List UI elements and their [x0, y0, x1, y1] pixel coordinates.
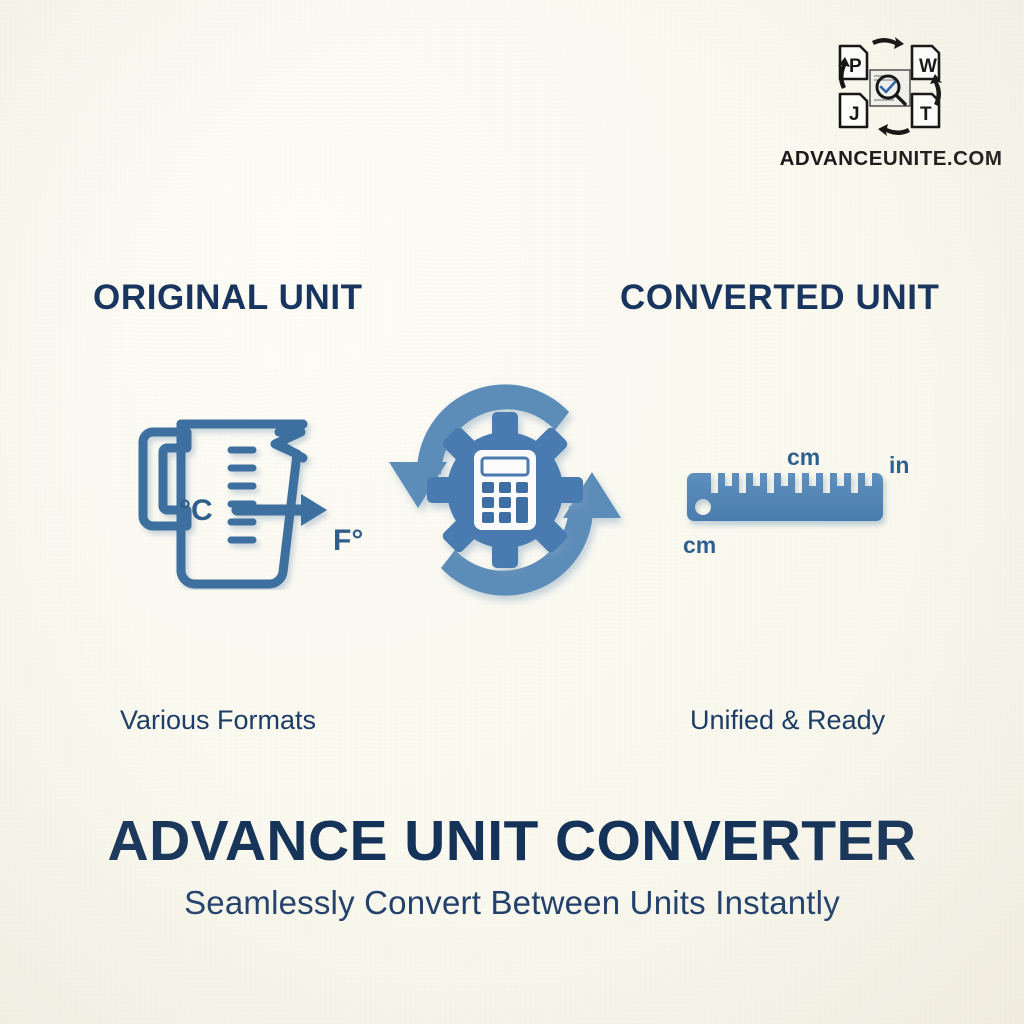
- icon-stage: °C F° °C F°: [0, 350, 1024, 640]
- ruler-label-right-value: in: [935, 445, 936, 446]
- gear-calculator-conversion-icon: [355, 350, 655, 635]
- ruler-label-top: cm: [787, 445, 820, 470]
- svg-text:W: W: [919, 56, 937, 77]
- gear-icon: [427, 412, 583, 568]
- footer-block: ADVANCE UNIT CONVERTER Seamlessly Conver…: [0, 812, 1024, 922]
- caption-various-formats: Various Formats: [120, 705, 316, 736]
- ruler-label-bottom: cm: [683, 532, 716, 558]
- file-conversion-cycle-icon: P W T J: [832, 34, 950, 139]
- ruler-label-bottom-value: cm: [935, 445, 936, 446]
- brand-name: ADVANCEUNITE.COM: [780, 147, 1003, 171]
- measuring-cup-icon: °C F° °C F°: [95, 410, 385, 595]
- svg-text:P: P: [849, 56, 862, 77]
- ruler-label-right: in: [889, 452, 909, 478]
- unit-from-label: °C: [179, 494, 213, 527]
- page-title: ADVANCE UNIT CONVERTER: [0, 812, 1024, 872]
- poster-canvas: P W T J: [0, 0, 1024, 1024]
- calculator-icon: [474, 450, 536, 530]
- ruler-icon: cm in cm cm in cm: [675, 445, 935, 570]
- converted-unit-header: CONVERTED UNIT: [620, 278, 940, 318]
- caption-unified-ready: Unified & Ready: [690, 705, 885, 736]
- ruler-label-top-value: cm: [935, 445, 936, 446]
- brand-logo[interactable]: P W T J: [776, 34, 1006, 171]
- svg-text:T: T: [920, 104, 932, 125]
- original-unit-header: ORIGINAL UNIT: [93, 278, 363, 318]
- svg-text:J: J: [849, 104, 860, 125]
- page-subtitle: Seamlessly Convert Between Units Instant…: [0, 884, 1024, 922]
